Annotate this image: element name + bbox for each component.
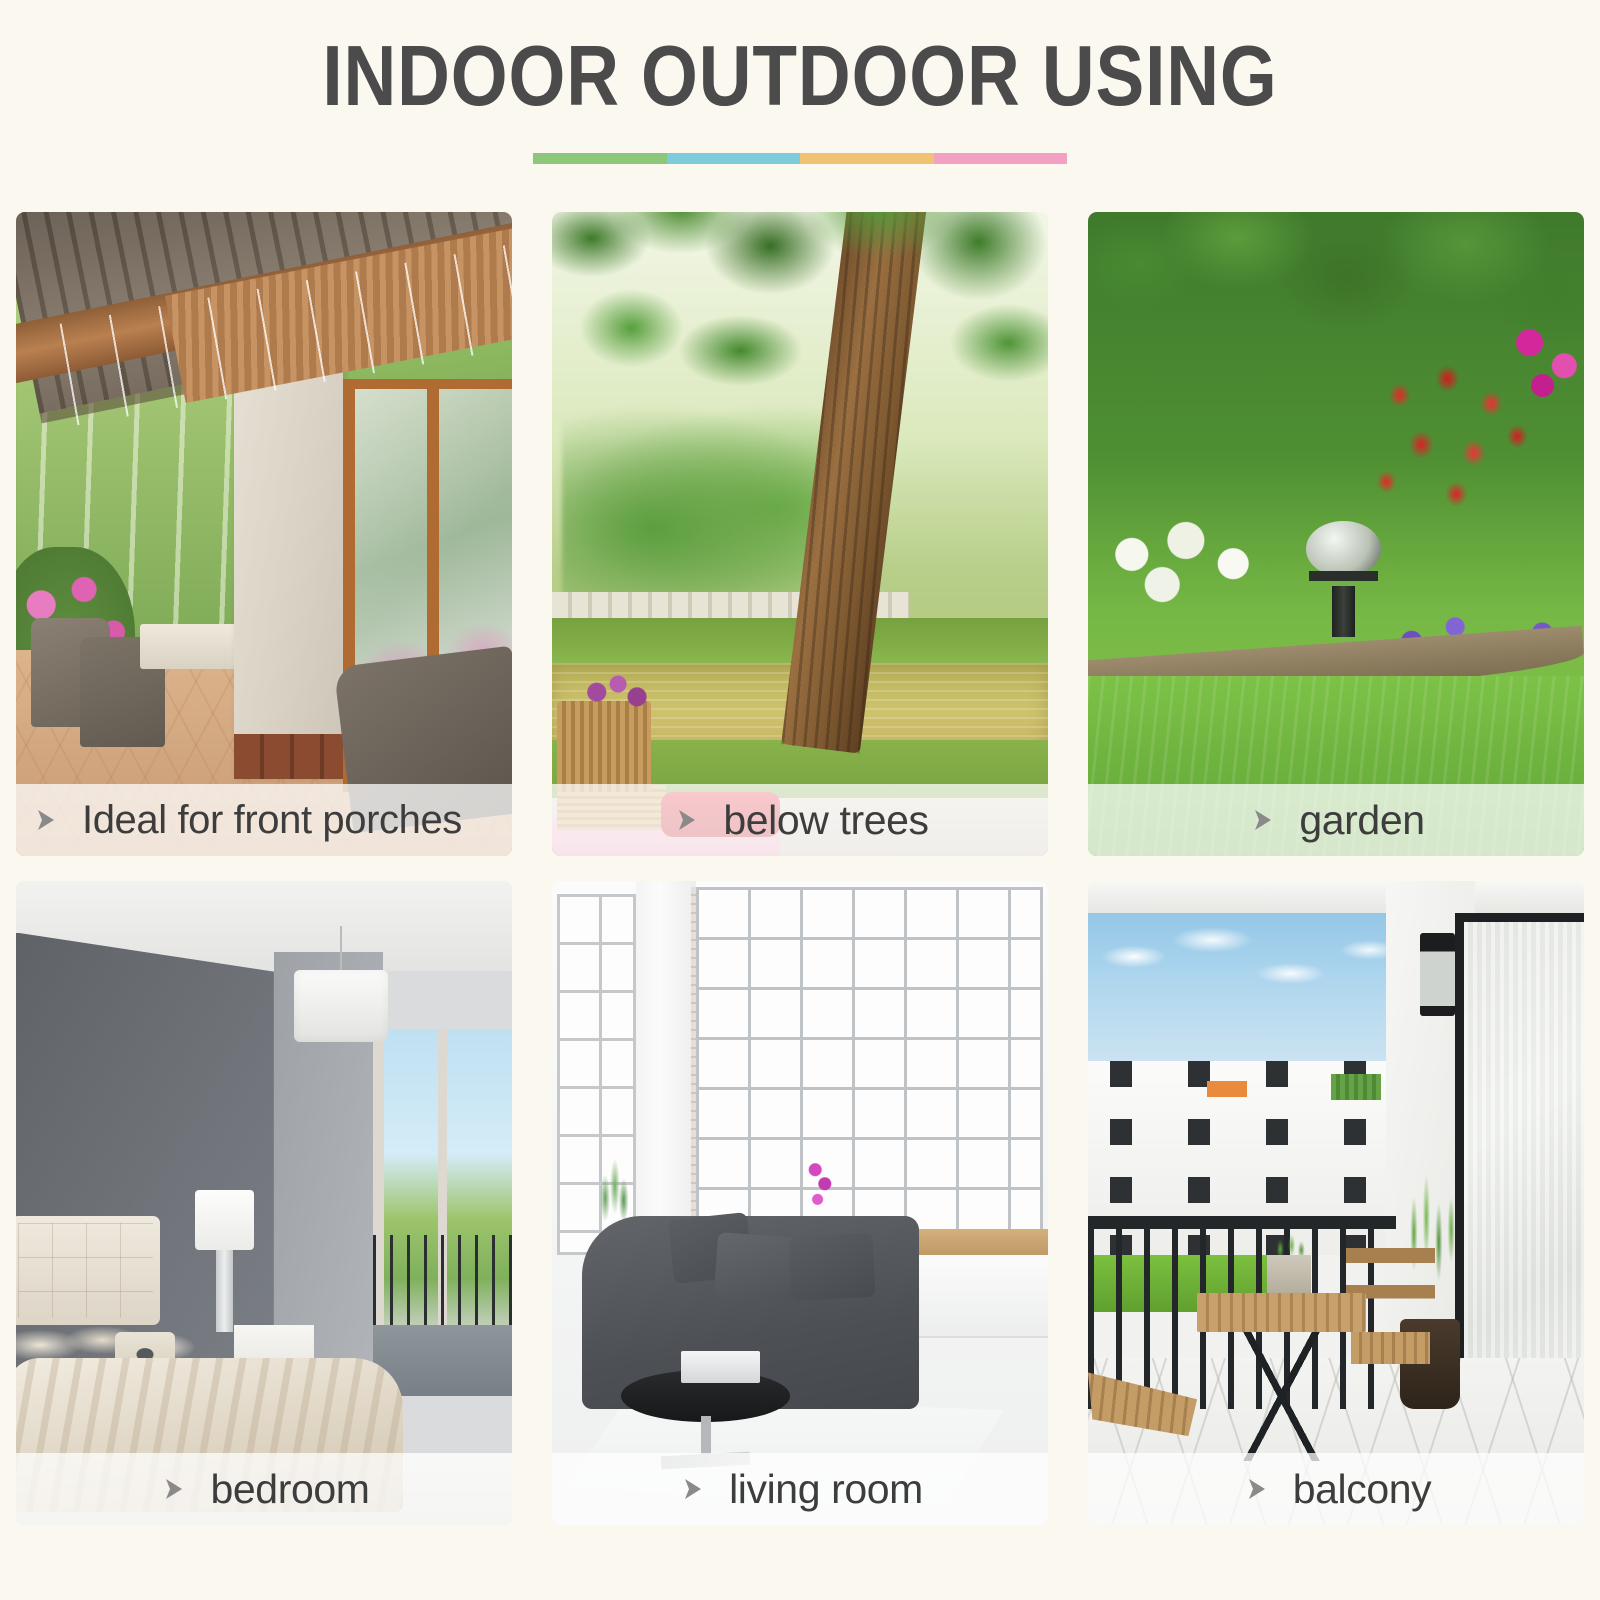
usage-card-garden[interactable]: garden — [1088, 212, 1584, 856]
usage-card-grid: Ideal for front porches below trees — [16, 212, 1584, 1525]
caption-bar: Ideal for front porches — [16, 784, 512, 856]
usage-card-living-room[interactable]: living room — [552, 881, 1048, 1525]
caption-label: living room — [729, 1469, 923, 1510]
color-divider — [533, 153, 1067, 164]
caption-label: Ideal for front porches — [82, 800, 462, 840]
caption-bar: garden — [1088, 784, 1584, 856]
chevron-right-icon — [671, 802, 707, 838]
usage-card-bedroom[interactable]: bedroom — [16, 881, 512, 1525]
page-title: INDOOR OUTDOOR USING — [112, 34, 1488, 121]
chevron-right-icon — [30, 802, 66, 838]
chevron-right-icon — [1241, 1471, 1277, 1507]
usage-card-below-trees[interactable]: below trees — [552, 212, 1048, 856]
caption-label: below trees — [723, 800, 928, 841]
usage-card-front-porch[interactable]: Ideal for front porches — [16, 212, 512, 856]
caption-label: bedroom — [210, 1469, 369, 1510]
photo-bedroom — [16, 881, 512, 1525]
chevron-right-icon — [158, 1471, 194, 1507]
page-header: INDOOR OUTDOOR USING — [0, 0, 1600, 164]
divider-segment-pink — [934, 153, 1068, 164]
caption-label: garden — [1299, 800, 1424, 841]
photo-garden — [1088, 212, 1584, 856]
usage-card-balcony[interactable]: balcony — [1088, 881, 1584, 1525]
chevron-right-icon — [1247, 802, 1283, 838]
page-root: INDOOR OUTDOOR USING — [0, 0, 1600, 1600]
caption-label: balcony — [1293, 1469, 1432, 1510]
photo-balcony — [1088, 881, 1584, 1525]
photo-front-porch — [16, 212, 512, 856]
caption-bar: living room — [552, 1453, 1048, 1525]
caption-bar: below trees — [552, 784, 1048, 856]
caption-bar: bedroom — [16, 1453, 512, 1525]
divider-segment-green — [533, 153, 667, 164]
divider-segment-blue — [667, 153, 801, 164]
photo-below-trees — [552, 212, 1048, 856]
photo-living-room — [552, 881, 1048, 1525]
divider-segment-orange — [800, 153, 934, 164]
chevron-right-icon — [677, 1471, 713, 1507]
caption-bar: balcony — [1088, 1453, 1584, 1525]
